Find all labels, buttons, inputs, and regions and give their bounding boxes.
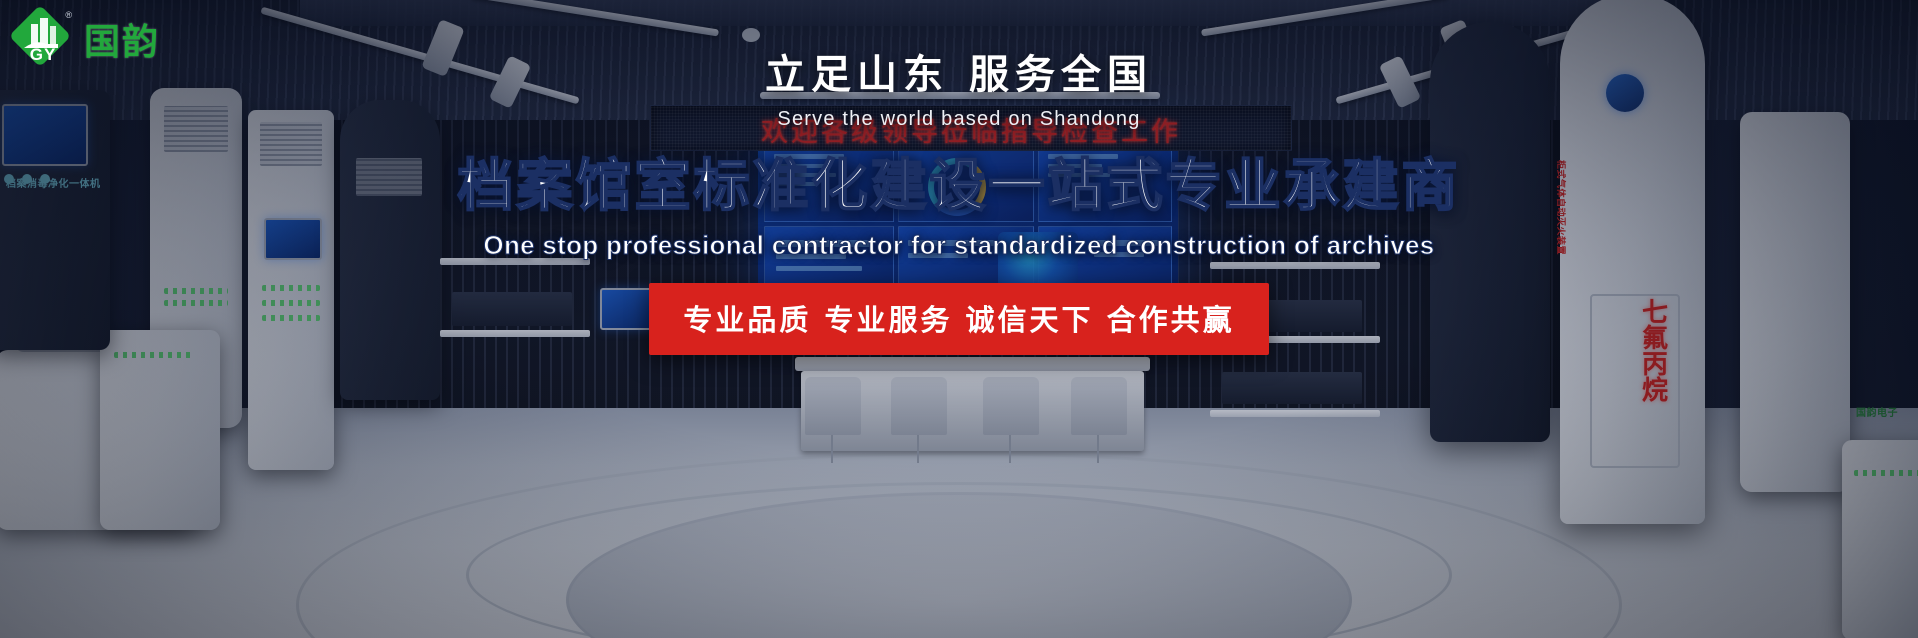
hero-copy: 立足山东 服务全国 Serve the world based on Shand…: [0, 0, 1918, 355]
logo-mark-text: GY: [12, 45, 74, 65]
headline-en: One stop professional contractor for sta…: [0, 230, 1918, 261]
slogan-ribbon: 专业品质 专业服务 诚信天下 合作共赢: [649, 283, 1268, 355]
brand-name: 国韵: [84, 13, 160, 65]
company-logo[interactable]: ® GY 国韵: [12, 8, 160, 70]
headline-cn: 档案馆室标准化建设一站式专业承建商: [0, 141, 1918, 222]
tagline-en: Serve the world based on Shandong: [0, 108, 1918, 131]
registered-symbol: ®: [65, 10, 72, 20]
hero-banner: 欢迎各级领导莅临指导检查工作: [0, 0, 1918, 638]
guoyun-diamond-logo-icon: ® GY: [12, 8, 74, 70]
tagline-cn: 立足山东 服务全国: [0, 42, 1918, 100]
